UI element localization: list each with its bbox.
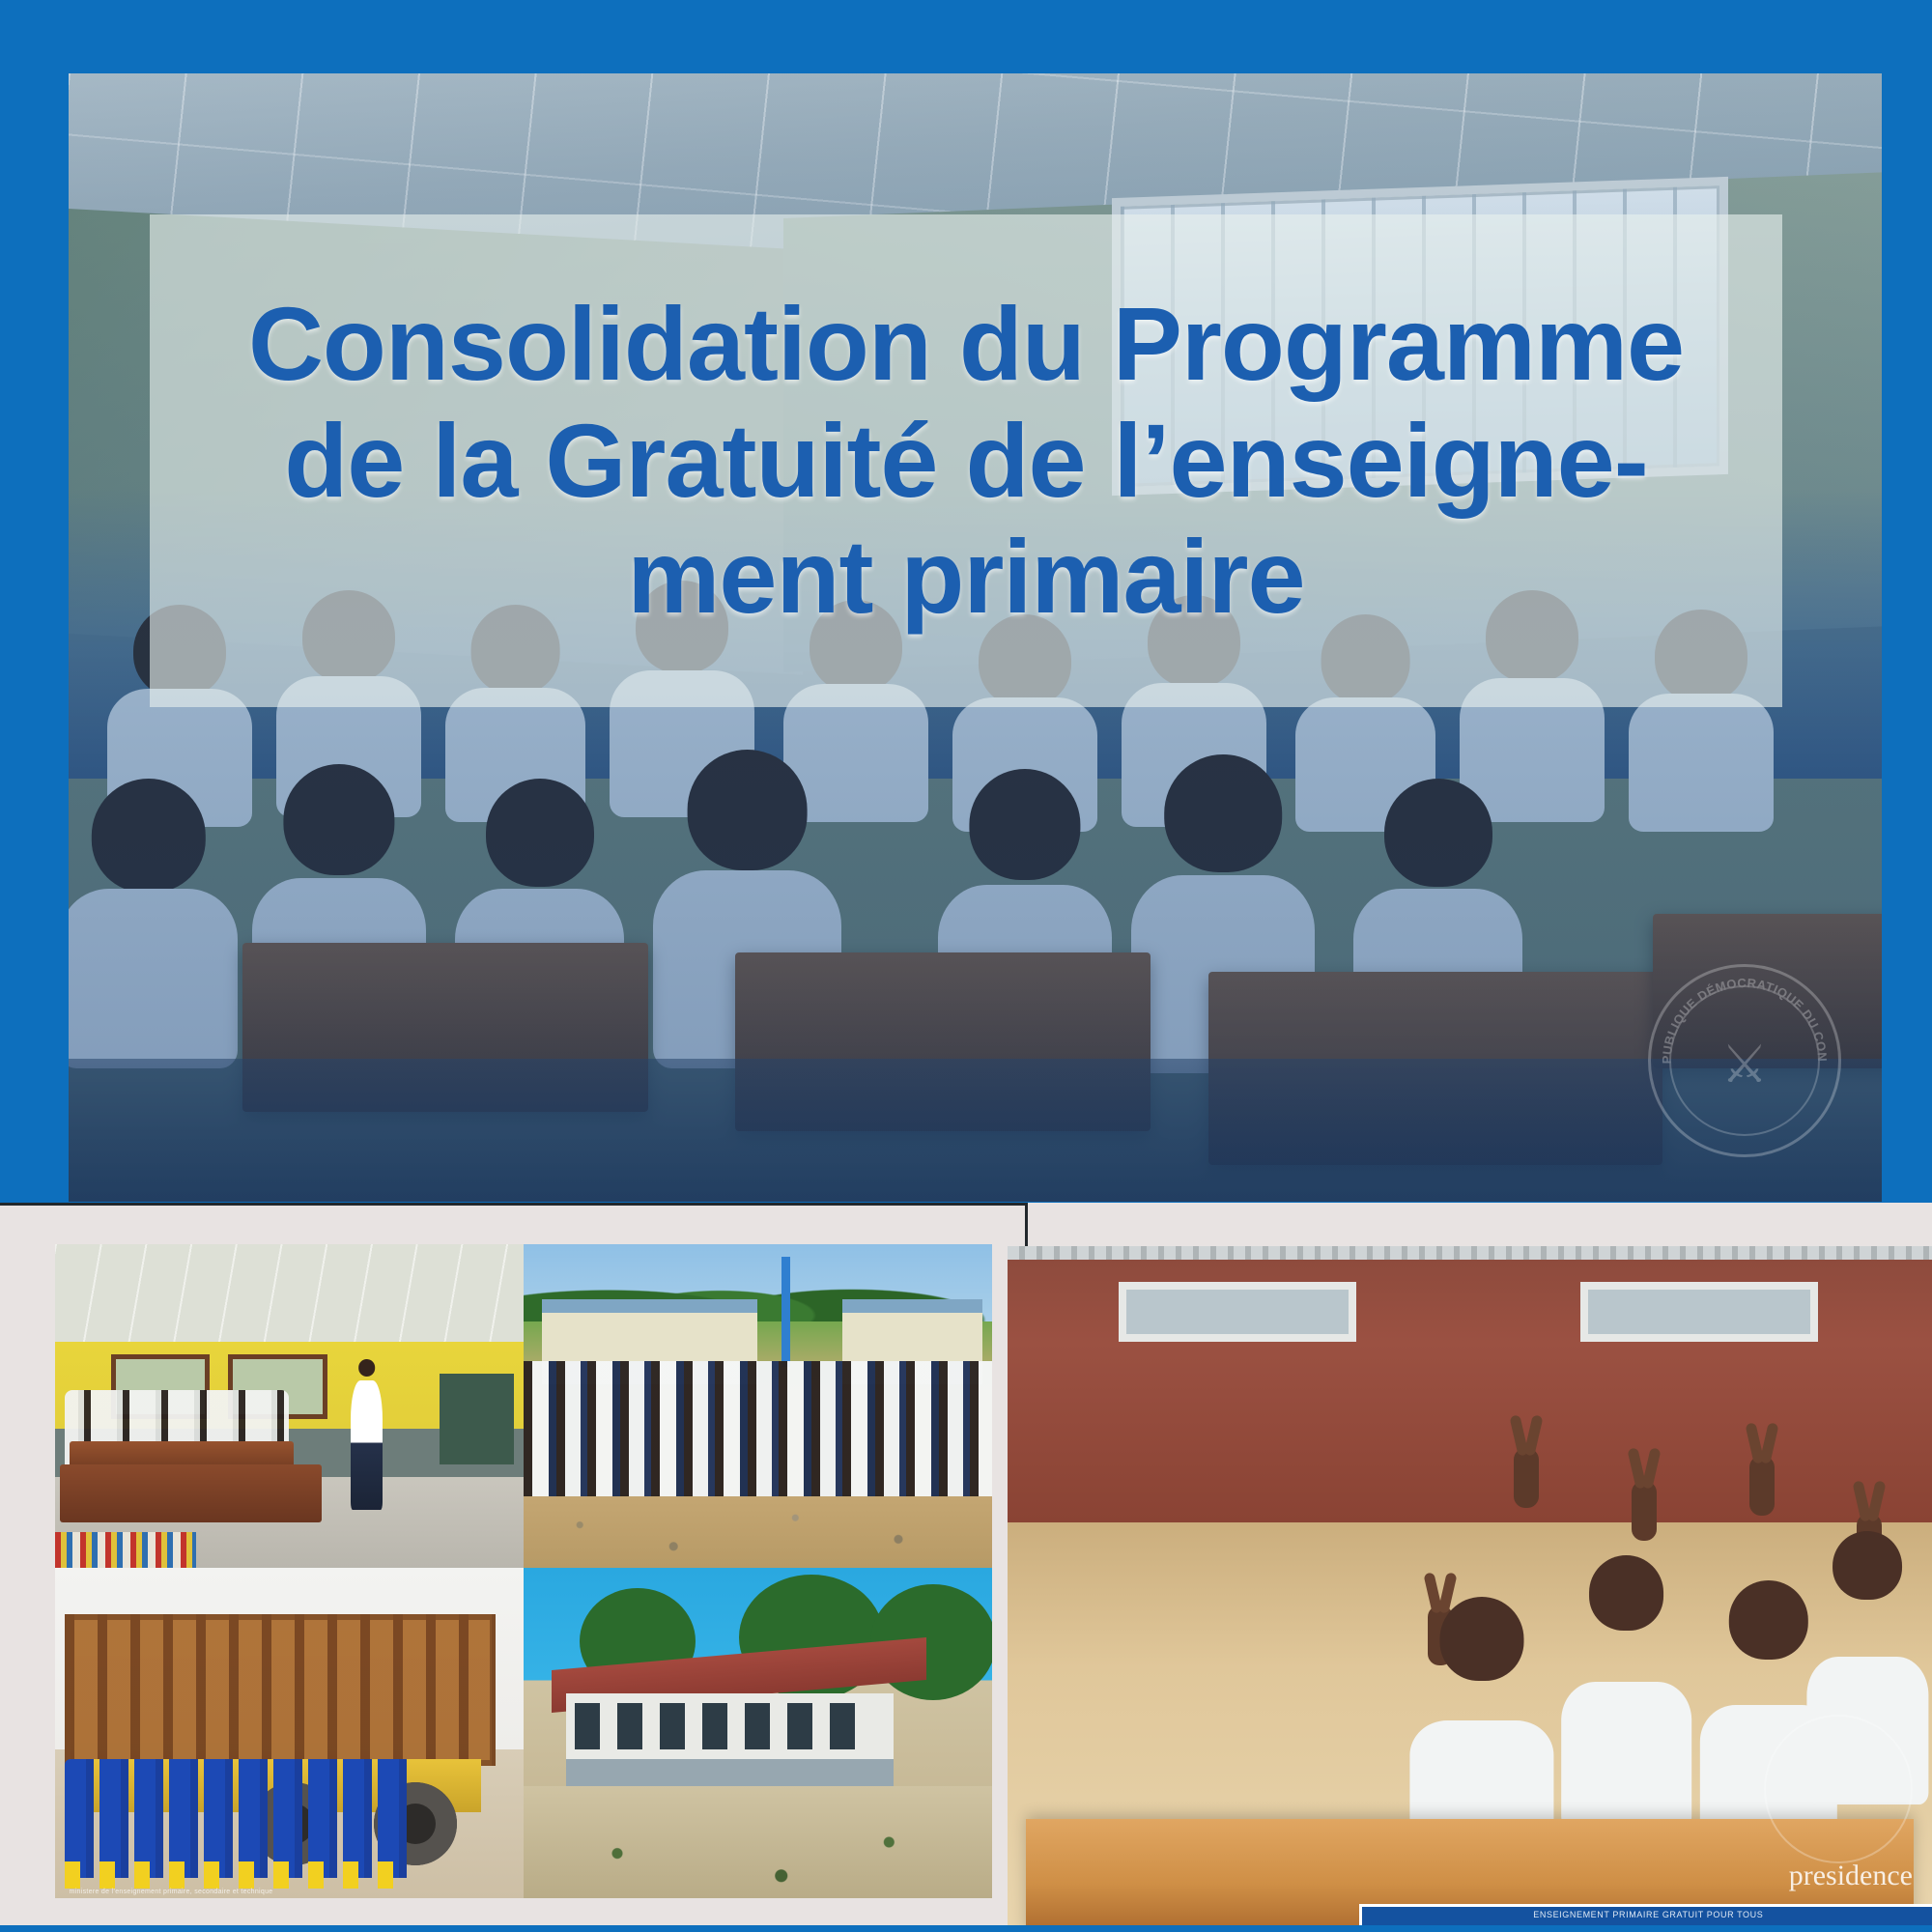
- building-window: [1580, 1282, 1818, 1342]
- pupil: [1556, 1555, 1695, 1829]
- list-item[interactable]: [55, 1244, 524, 1568]
- footer-accent-bar: [0, 1925, 1932, 1932]
- feature-watermark: presidence: [1789, 1860, 1913, 1892]
- thumbnail-grid: ministere de l’enseignement primaire, se…: [55, 1244, 992, 1898]
- list-item[interactable]: [524, 1568, 992, 1898]
- page-title: Consolidation du Programme de la Gratuit…: [213, 286, 1719, 637]
- victory-hand-icon: [1514, 1448, 1539, 1508]
- victory-hand-icon: [1749, 1456, 1775, 1516]
- thumbnail-watermark: ministere de l’enseignement primaire, se…: [70, 1889, 273, 1895]
- coat-of-arms-seal-icon: RÉPUBLIQUE DÉMOCRATIQUE DU CONGO ⚔: [1648, 964, 1841, 1157]
- victory-hand-icon: [1632, 1481, 1657, 1541]
- feature-banner-text: ENSEIGNEMENT PRIMAIRE GRATUIT POUR TOUS: [1362, 1907, 1932, 1922]
- building-window: [1119, 1282, 1356, 1342]
- feature-photo[interactable]: presidence ENSEIGNEMENT PRIMAIRE GRATUIT…: [1008, 1246, 1932, 1932]
- roof-edge: [1008, 1246, 1932, 1260]
- hero-banner: RÉPUBLIQUE DÉMOCRATIQUE DU CONGO ⚔ Conso…: [0, 0, 1932, 1203]
- leopard-head-icon: ⚔: [1721, 1038, 1768, 1091]
- title-plate: Consolidation du Programme de la Gratuit…: [150, 214, 1782, 707]
- list-item[interactable]: ministere de l’enseignement primaire, se…: [55, 1568, 524, 1898]
- coat-of-arms-seal-icon: [1764, 1715, 1913, 1863]
- bottom-section: ministere de l’enseignement primaire, se…: [0, 1203, 1932, 1932]
- divider-horizontal: [0, 1203, 1028, 1206]
- poster-root: RÉPUBLIQUE DÉMOCRATIQUE DU CONGO ⚔ Conso…: [0, 0, 1932, 1932]
- pupil: [1406, 1597, 1556, 1854]
- list-item[interactable]: [524, 1244, 992, 1568]
